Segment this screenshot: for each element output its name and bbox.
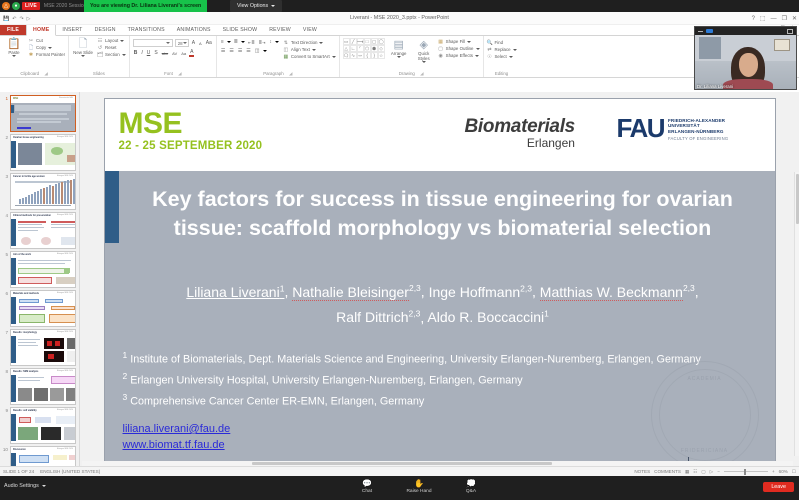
chevron-down-icon[interactable]: [81, 55, 85, 57]
chevron-down-icon[interactable]: [263, 50, 267, 52]
fau-logo-faculty: FACULTY OF ENGINEERING: [668, 136, 728, 142]
slide-title-text[interactable]: Key factors for success in tissue engine…: [125, 185, 761, 243]
chevron-down-icon[interactable]: [476, 48, 480, 50]
thumbnail-number: 5: [2, 251, 8, 257]
arrange-button[interactable]: ▤ Arrange: [388, 38, 410, 58]
author-4: Matthias W. Beckmann: [540, 284, 683, 301]
thumbnail-header: Erlangen MSE 2020: [57, 331, 73, 333]
slide-thumbnail-pane[interactable]: 1 MSE Biomaterials FAU 2: [0, 92, 80, 466]
quick-styles-button[interactable]: ◈ Quick Styles: [413, 38, 435, 63]
shape-rounded-icon[interactable]: ▢: [371, 38, 378, 45]
view-options-label: View Options: [237, 3, 268, 9]
webcam-video-feed: Dr. Liliana Liverani: [695, 35, 796, 90]
participant-name-label: Dr. Liliana Liverani: [697, 84, 733, 89]
undo-icon[interactable]: ↶: [12, 16, 16, 22]
increase-indent-button[interactable]: ≣⇥: [258, 40, 267, 45]
chevron-down-icon[interactable]: [166, 42, 170, 44]
strikethrough-button[interactable]: abc: [161, 51, 169, 56]
ribbon-tabs: FILE HOME INSERT DESIGN TRANSITIONS ANIM…: [0, 25, 799, 36]
shape-curve-icon[interactable]: ∿: [350, 52, 357, 59]
chevron-down-icon[interactable]: [48, 47, 52, 49]
thumbnail-slide-1[interactable]: 1 MSE Biomaterials FAU: [0, 94, 79, 133]
shape-lbracket-icon[interactable]: ∟: [350, 45, 357, 52]
align-text-icon: ◫: [283, 47, 289, 53]
thumbnail-preview[interactable]: Discussion Erlangen MSE 2020: [10, 446, 76, 466]
thumbnail-slide-10[interactable]: 10 Discussion Erlangen MSE 2020: [0, 445, 79, 466]
replace-icon: ⇄: [487, 47, 493, 53]
affiliation-3-sup: 3: [123, 392, 128, 402]
thumbnail-preview[interactable]: MSE Biomaterials FAU: [10, 95, 76, 132]
thumbnail-number: 4: [2, 212, 8, 218]
text-direction-button[interactable]: ⇅ Text Direction: [283, 40, 336, 46]
layout-button[interactable]: ☷ Layout: [97, 38, 126, 44]
editing-group-label: Editing: [487, 70, 517, 77]
smartart-icon: ▦: [283, 54, 289, 60]
tab-slide-show[interactable]: SLIDE SHOW: [217, 25, 264, 35]
save-icon[interactable]: 💾: [3, 16, 9, 22]
shape-outline-icon: ▢: [438, 46, 444, 52]
seal-bottom-text: FRIDERICIANA: [652, 448, 758, 454]
tab-transitions[interactable]: TRANSITIONS: [122, 25, 171, 35]
bold-button[interactable]: B: [133, 50, 139, 56]
author-5-name: Ralf Dittrich: [336, 309, 408, 325]
ribbon-group-slides: 🗋 New Slide ☷ Layout ↺ Reset: [69, 36, 130, 77]
shape-arrow-icon[interactable]: ⟶: [357, 38, 364, 45]
minimize-icon[interactable]: [698, 31, 703, 32]
background-picture-frame: [774, 39, 790, 51]
reset-icon: ↺: [97, 45, 103, 51]
qa-bubbles-icon: 💭: [466, 479, 476, 488]
drawing-group-label: Drawing ◢: [343, 70, 480, 77]
layout-icon: ☷: [97, 38, 103, 44]
author-2-name: Nathalie Bleisinger: [292, 284, 409, 300]
paintbrush-icon: ✱: [28, 52, 34, 58]
affiliation-1-sup: 1: [123, 350, 128, 360]
drawing-group-text: Drawing: [399, 71, 415, 76]
microphone-muted-icon[interactable]: △: [2, 2, 10, 10]
tab-home[interactable]: HOME: [26, 25, 56, 36]
font-size-input[interactable]: 28: [175, 39, 189, 47]
character-spacing-button[interactable]: AV: [171, 51, 178, 56]
notes-button[interactable]: NOTES: [634, 469, 650, 474]
slide-indicator: SLIDE 1 OF 24: [3, 469, 34, 474]
font-group-text: Font: [164, 71, 173, 76]
grow-font-button[interactable]: A: [191, 40, 196, 46]
reset-button[interactable]: ↺ Reset: [97, 45, 126, 51]
chevron-down-icon[interactable]: [312, 49, 316, 51]
thumbnail-preview[interactable]: Ovarian tissue engineering Erlangen MSE …: [10, 134, 76, 171]
clipboard-group-label: Clipboard ◢: [3, 70, 65, 77]
background-door: [699, 37, 721, 59]
thumbnail-slide-2[interactable]: 2 Ovarian tissue engineering Erlangen MS…: [0, 133, 79, 172]
thumbnail-slide-8[interactable]: 8 Results: SEM analysis Erlangen MSE 202…: [0, 367, 79, 406]
chevron-up-icon[interactable]: [42, 485, 46, 487]
format-painter-button[interactable]: ✱ Format Painter: [28, 52, 65, 58]
dialog-launcher-icon[interactable]: ◢: [420, 71, 423, 76]
webcam-self-view[interactable]: Dr. Liliana Liverani: [694, 26, 797, 90]
author-5: Ralf Dittrich2,3: [336, 309, 420, 325]
mse-logo-text: MSE: [119, 109, 263, 139]
thumbnail-slide-5[interactable]: 5 Aim of the work Erlangen MSE 2020: [0, 250, 79, 289]
thumbnail-header: Erlangen MSE 2020: [57, 292, 73, 294]
shape-star-icon[interactable]: ☆: [378, 52, 385, 59]
section-label: Section: [105, 52, 120, 58]
thumbnail-number: 7: [2, 329, 8, 335]
raise-hand-label: Raise Hand: [406, 489, 431, 494]
format-painter-label: Format Painter: [36, 52, 65, 58]
zoom-out-button[interactable]: −: [717, 469, 720, 474]
shape-square-icon[interactable]: □: [364, 38, 371, 45]
tab-animations[interactable]: ANIMATIONS: [171, 25, 217, 35]
chevron-down-icon[interactable]: [227, 41, 231, 43]
screen-share-banner: You are viewing Dr. Liliana Liverani's s…: [84, 0, 207, 12]
dialog-launcher-icon[interactable]: ◢: [289, 71, 292, 76]
thumbnail-title: Clinical methods for preservation: [13, 214, 51, 217]
align-left-button[interactable]: ☰: [220, 48, 226, 54]
fit-to-window-icon[interactable]: ☐: [792, 469, 796, 475]
replace-button[interactable]: ⇄ Replace: [487, 47, 517, 53]
align-text-button[interactable]: ◫ Align Text: [283, 47, 336, 53]
language-indicator[interactable]: ENGLISH (UNITED STATES): [40, 469, 100, 474]
copy-button[interactable]: 🗋 Copy: [28, 45, 65, 51]
thumbnail-preview[interactable]: Results: cell viability Erlangen MSE 202…: [10, 407, 76, 444]
shadow-button[interactable]: S: [153, 50, 158, 56]
live-badge: LIVE: [22, 2, 40, 10]
thumbnail-header: Erlangen MSE 2020: [57, 448, 73, 450]
thumbnail-number: 10: [2, 446, 8, 452]
ppt-document-title: Liverani - MSE 2020_3.pptx - PowerPoint: [350, 15, 449, 21]
author-4-sup: 2,3: [683, 283, 695, 293]
thumbnail-preview[interactable]: Materials and methods Erlangen MSE 2020: [10, 290, 76, 327]
arrange-icon: ▤: [393, 39, 403, 51]
author-2-sup: 2,3: [409, 283, 421, 293]
ppt-status-bar: SLIDE 1 OF 24 ENGLISH (UNITED STATES) NO…: [0, 466, 799, 476]
restore-button[interactable]: ❐: [782, 15, 787, 22]
slide-accent-strip: [105, 171, 119, 243]
italic-button[interactable]: I: [140, 50, 143, 56]
shape-outline-button[interactable]: ▢ Shape Outline: [438, 46, 480, 52]
thumbnail-preview[interactable]: Results: morphology Erlangen MSE 2020: [10, 329, 76, 366]
quick-access-toolbar: 💾 ↶ ↷ ▷: [3, 12, 31, 25]
powerpoint-window: 💾 ↶ ↷ ▷ Liverani - MSE 2020_3.pptx - Pow…: [0, 12, 799, 476]
shape-brace-left-icon[interactable]: {: [364, 52, 371, 59]
reading-view-icon[interactable]: ▢: [701, 469, 705, 475]
affiliation-3-text: Comprehensive Cancer Center ER-EMN, Erla…: [130, 396, 424, 408]
slide-editor[interactable]: MSE 22 - 25 SEPTEMBER 2020 Biomaterials …: [104, 98, 776, 476]
thumbnail-header: Erlangen MSE 2020: [57, 214, 73, 216]
thumbnail-number: 1: [2, 95, 8, 101]
ribbon-group-drawing: ▭ ╱ ⟶ □ ▢ ◯ △ ∟ ⌜ ⬠ ⬢ ◇ 🗨 ∿ ∾: [340, 36, 484, 77]
website-link[interactable]: www.biomat.tf.fau.de: [123, 439, 225, 451]
change-case-button[interactable]: Aa: [180, 51, 187, 56]
chevron-down-icon[interactable]: [475, 55, 479, 57]
thumbnail-preview[interactable]: Aim of the work Erlangen MSE 2020: [10, 251, 76, 288]
shape-rect-icon[interactable]: ▭: [343, 38, 350, 45]
shapes-gallery[interactable]: ▭ ╱ ⟶ □ ▢ ◯ △ ∟ ⌜ ⬠ ⬢ ◇ 🗨 ∿ ∾: [343, 38, 385, 59]
thumbnail-slide-6[interactable]: 6 Materials and methods Erlangen MSE 202…: [0, 289, 79, 328]
author-3-name: Inge Hoffmann: [429, 284, 521, 300]
select-label: Select: [495, 54, 507, 60]
vertical-scrollbar[interactable]: [794, 172, 799, 456]
shape-diamond-icon[interactable]: ◇: [378, 45, 385, 52]
scissors-icon: ✂: [28, 38, 34, 44]
tab-file[interactable]: FILE: [0, 25, 26, 35]
chevron-down-icon[interactable]: [12, 55, 16, 57]
slide-canvas-area: MSE 22 - 25 SEPTEMBER 2020 Biomaterials …: [80, 92, 799, 466]
author-1-name: Liliana Liverani: [186, 284, 279, 300]
affiliation-2-sup: 2: [123, 371, 128, 381]
qa-button[interactable]: 💭 Q&A: [456, 479, 486, 494]
thumbnail-slide-3[interactable]: 3 Cancer in fertile age women Erlangen M…: [0, 172, 79, 211]
zoom-slider[interactable]: [724, 471, 768, 472]
normal-view-icon[interactable]: ▦: [685, 469, 689, 475]
fau-logo-university: FRIEDRICH-ALEXANDER UNIVERSITÄT ERLANGEN…: [668, 118, 728, 134]
thumbnail-header: Biomaterials FAU: [59, 97, 73, 99]
justify-button[interactable]: ☰: [245, 48, 251, 54]
ribbon-display-icon[interactable]: ⬚: [760, 15, 766, 22]
author-3: Inge Hoffmann2,3: [429, 284, 532, 300]
author-2: Nathalie Bleisinger: [292, 284, 409, 301]
expand-icon[interactable]: [787, 29, 793, 34]
zoom-level: 60%: [779, 469, 788, 474]
font-color-button[interactable]: A: [189, 49, 194, 57]
video-active-icon[interactable]: [706, 29, 713, 33]
shape-triangle-icon[interactable]: △: [343, 45, 350, 52]
thumbnail-number: 9: [2, 407, 8, 413]
select-icon: ☉: [487, 54, 493, 60]
shape-pentagon-icon[interactable]: ⬠: [364, 45, 371, 52]
columns-button[interactable]: ◫: [254, 48, 261, 54]
zoom-bottom-bar: Audio Settings 💬 Chat ✋ Raise Hand 💭 Q&A…: [0, 476, 799, 500]
quick-styles-label: Quick Styles: [413, 51, 435, 61]
shape-hexagon-icon[interactable]: ⬢: [371, 45, 378, 52]
affiliation-2-text: Erlangen University Hospital, University…: [130, 375, 522, 387]
reset-label: Reset: [105, 45, 116, 51]
chevron-down-icon[interactable]: [120, 40, 124, 42]
help-icon[interactable]: ?: [752, 16, 755, 22]
view-options-button[interactable]: View Options: [230, 0, 282, 12]
thumbnail-slide-9[interactable]: 9 Results: cell viability Erlangen MSE 2…: [0, 406, 79, 445]
shape-oval-icon[interactable]: ◯: [378, 38, 385, 45]
chat-bubble-icon: 💬: [362, 479, 372, 488]
zoom-top-bar: △ ● LIVE MSE 2020 Session Live You are v…: [0, 0, 799, 12]
ribbon-group-editing: 🔍 Find ⇄ Replace ☉ Select: [484, 36, 520, 77]
shape-effects-label: Shape Effects: [446, 53, 473, 59]
font-name-input[interactable]: [133, 39, 173, 47]
ppt-title-bar: 💾 ↶ ↷ ▷ Liverani - MSE 2020_3.pptx - Pow…: [0, 12, 799, 25]
slideshow-icon[interactable]: ▷: [27, 16, 31, 22]
thumbnail-title: Materials and methods: [13, 292, 39, 295]
new-slide-button[interactable]: 🗋 New Slide: [72, 37, 94, 57]
biomaterials-logo-line2: Erlangen: [465, 137, 575, 150]
shape-freeform-icon[interactable]: ∾: [357, 52, 364, 59]
fau-logo-mark: FAU: [617, 115, 665, 141]
shape-callout-icon[interactable]: 🗨: [343, 52, 350, 59]
author-5-sup: 2,3: [409, 309, 421, 319]
author-6: Aldo R. Boccaccini1: [427, 309, 548, 325]
bullets-button[interactable]: ≡: [220, 39, 225, 45]
thumbnail-title: Cancer in fertile age women: [13, 175, 45, 178]
numbering-button[interactable]: ≣: [233, 39, 239, 45]
shape-line-icon[interactable]: ╱: [350, 38, 357, 45]
thumbnail-title: Ovarian tissue engineering: [13, 136, 44, 139]
thumbnail-number: 6: [2, 290, 8, 296]
shape-connector-icon[interactable]: ⌜: [357, 45, 364, 52]
shape-effects-button[interactable]: ◉ Shape Effects: [438, 53, 480, 59]
seal-top-text: ACADEMIA: [652, 376, 758, 382]
clear-formatting-button[interactable]: Aa: [205, 40, 213, 46]
minimize-button[interactable]: —: [771, 16, 777, 22]
clipboard-group-text: Clipboard: [20, 71, 39, 76]
tab-review[interactable]: REVIEW: [263, 25, 297, 35]
section-icon: 🗂: [97, 52, 103, 58]
copy-label: Copy: [36, 45, 46, 51]
thumbnail-header: Erlangen MSE 2020: [57, 136, 73, 138]
raise-hand-icon: ✋: [414, 479, 424, 488]
author-1: Liliana Liverani1: [186, 284, 284, 300]
chat-label: Chat: [362, 489, 372, 494]
fau-logo: FAU FRIEDRICH-ALEXANDER UNIVERSITÄT ERLA…: [617, 115, 729, 142]
ribbon-group-clipboard: 📋 Paste ✂ Cut 🗋 Copy: [0, 36, 69, 77]
paste-button[interactable]: 📋 Paste: [3, 37, 25, 57]
work-area: 1 MSE Biomaterials FAU 2: [0, 92, 799, 466]
dialog-launcher-icon[interactable]: ◢: [178, 71, 181, 76]
author-6-sup: 1: [544, 309, 549, 319]
chevron-down-icon[interactable]: [422, 61, 426, 63]
paragraph-group-text: Paragraph: [263, 71, 284, 76]
slideshow-icon[interactable]: ▷: [710, 469, 714, 475]
raise-hand-button[interactable]: ✋ Raise Hand: [404, 479, 434, 494]
chevron-down-icon[interactable]: [513, 49, 517, 51]
thumbnail-number: 3: [2, 173, 8, 179]
shape-brace-right-icon[interactable]: }: [371, 52, 378, 59]
thumbnail-preview[interactable]: Results: SEM analysis Erlangen MSE 2020: [10, 368, 76, 405]
comments-button[interactable]: COMMENTS: [654, 469, 681, 474]
clipboard-icon: 📋: [7, 38, 21, 50]
thumbnail-slide-4[interactable]: 4 Clinical methods for preservation Erla…: [0, 211, 79, 250]
author-sep: ,: [532, 284, 540, 300]
text-direction-icon: ⇅: [283, 40, 289, 46]
ribbon-group-paragraph: ≡ ≣ ⇤≣ ≣⇥ ↕ ☰ ☰ ☰: [217, 36, 340, 77]
chat-button[interactable]: 💬 Chat: [352, 479, 382, 494]
thumbnail-slide-7[interactable]: 7 Results: morphology Erlangen MSE 2020: [0, 328, 79, 367]
chevron-down-icon[interactable]: [122, 54, 126, 56]
slide-authors-text[interactable]: Liliana Liverani1, Nathalie Bleisinger2,…: [125, 277, 761, 328]
thumbnail-title: MSE: [13, 97, 18, 100]
qa-label: Q&A: [466, 489, 476, 494]
paragraph-group-label: Paragraph ◢: [220, 70, 336, 77]
chevron-down-icon[interactable]: [183, 42, 187, 44]
tab-view[interactable]: VIEW: [297, 25, 323, 35]
mse-conference-logo: MSE 22 - 25 SEPTEMBER 2020: [119, 109, 263, 152]
affiliation-3: 3 Comprehensive Cancer Center ER-EMN, Er…: [123, 389, 723, 410]
align-text-label: Align Text: [291, 47, 310, 53]
chevron-down-icon[interactable]: [275, 41, 279, 43]
shape-effects-icon: ◉: [438, 53, 444, 59]
slide-affiliations-text[interactable]: 1 Institute of Biomaterials, Dept. Mater…: [123, 347, 723, 410]
participant-face: [739, 53, 758, 77]
chevron-down-icon[interactable]: [332, 56, 336, 58]
author-6-name: Aldo R. Boccaccini: [427, 309, 544, 325]
shape-fill-button[interactable]: ▦ Shape Fill: [438, 39, 480, 45]
thumbnail-number: 2: [2, 134, 8, 140]
camera-icon[interactable]: ●: [12, 2, 20, 10]
align-center-button[interactable]: ☰: [228, 48, 234, 54]
chevron-down-icon[interactable]: [397, 56, 401, 58]
audio-settings-label: Audio Settings: [4, 483, 39, 489]
biomaterials-logo: Biomaterials Erlangen: [465, 117, 575, 150]
ribbon-group-font: 28 A A Aa B I U S abc AV Aa: [130, 36, 217, 77]
shape-fill-icon: ▦: [438, 39, 444, 45]
audio-settings-button[interactable]: Audio Settings: [4, 483, 46, 489]
search-icon: 🔍: [487, 40, 493, 46]
affiliation-1-text: Institute of Biomaterials, Dept. Materia…: [130, 354, 701, 366]
author-3-sup: 2,3: [520, 283, 532, 293]
shape-fill-label: Shape Fill: [446, 39, 466, 45]
convert-smartart-label: Convert to SmartArt: [291, 54, 330, 60]
university-seal-watermark: ACADEMIA FRIDERICIANA: [651, 361, 759, 469]
author-sep: ,: [695, 284, 699, 300]
decrease-indent-button[interactable]: ⇤≣: [247, 40, 256, 45]
thumbnail-header: Erlangen MSE 2020: [57, 175, 73, 177]
chevron-down-icon[interactable]: [241, 41, 245, 43]
chevron-down-icon[interactable]: [467, 41, 471, 43]
sorter-view-icon[interactable]: ☷: [693, 469, 697, 475]
dialog-launcher-icon[interactable]: ◢: [44, 71, 47, 76]
convert-smartart-button[interactable]: ▦ Convert to SmartArt: [283, 54, 336, 60]
cut-label: Cut: [36, 38, 43, 44]
chevron-down-icon[interactable]: [319, 42, 323, 44]
close-button[interactable]: ✕: [792, 15, 797, 22]
thumbnail-header: Erlangen MSE 2020: [57, 370, 73, 372]
tab-design[interactable]: DESIGN: [89, 25, 122, 35]
find-button[interactable]: 🔍 Find: [487, 40, 517, 46]
redo-icon[interactable]: ↷: [19, 16, 23, 22]
section-button[interactable]: 🗂 Section: [97, 52, 126, 58]
ribbon: 📋 Paste ✂ Cut 🗋 Copy: [0, 36, 799, 78]
meeting-controls: 💬 Chat ✋ Raise Hand 💭 Q&A: [352, 479, 486, 494]
email-link[interactable]: liliana.liverani@fau.de: [123, 423, 231, 435]
copy-icon: 🗋: [28, 45, 34, 51]
quick-styles-icon: ◈: [419, 39, 427, 51]
thumbnail-preview[interactable]: Cancer in fertile age women Erlangen MSE…: [10, 173, 76, 210]
underline-button[interactable]: U: [146, 50, 152, 56]
window-controls: ? ⬚ — ❐ ✕: [752, 12, 797, 25]
slides-group-label: Slides: [72, 70, 126, 77]
line-spacing-button[interactable]: ↕: [268, 39, 273, 45]
webcam-toolbar: [695, 27, 796, 35]
align-right-button[interactable]: ☰: [237, 48, 243, 54]
thumbnail-preview[interactable]: Clinical methods for preservation Erlang…: [10, 212, 76, 249]
chevron-down-icon[interactable]: [509, 56, 513, 58]
author-sep: ,: [421, 284, 429, 300]
shrink-font-button[interactable]: A: [198, 41, 203, 46]
tab-insert[interactable]: INSERT: [56, 25, 88, 35]
select-button[interactable]: ☉ Select: [487, 54, 517, 60]
find-label: Find: [495, 40, 504, 46]
cut-button[interactable]: ✂ Cut: [28, 38, 65, 44]
slide-links[interactable]: liliana.liverani@fau.de www.biomat.tf.fa…: [123, 421, 231, 453]
biomaterials-logo-line1: Biomaterials: [465, 117, 575, 137]
thumbnail-title: Aim of the work: [13, 253, 31, 256]
shape-outline-label: Shape Outline: [446, 46, 474, 52]
leave-meeting-button[interactable]: Leave: [763, 482, 794, 492]
mse-dates: 22 - 25 SEPTEMBER 2020: [119, 140, 263, 152]
zoom-in-button[interactable]: +: [772, 469, 775, 474]
layout-label: Layout: [105, 38, 118, 44]
zoom-top-left-cluster: △ ● LIVE MSE 2020 Session Live: [0, 2, 97, 10]
thumbnail-header: Erlangen MSE 2020: [57, 409, 73, 411]
